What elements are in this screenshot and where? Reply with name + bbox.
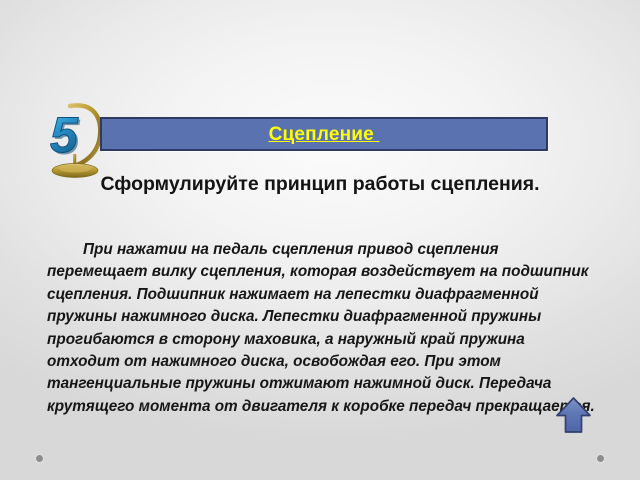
slide-canvas: 5 5 Сцепление Сформулируйте принцип рабо… bbox=[0, 0, 640, 480]
answer-paragraph: При нажатии на педаль сцепления привод с… bbox=[47, 239, 595, 418]
title-banner: Сцепление bbox=[100, 117, 548, 151]
up-arrow-icon[interactable] bbox=[554, 396, 594, 434]
question-heading: Сформулируйте принцип работы сцепления. bbox=[48, 172, 592, 197]
corner-dot-left bbox=[36, 455, 43, 462]
svg-text:5: 5 bbox=[50, 107, 79, 163]
corner-dot-right bbox=[597, 455, 604, 462]
page-title: Сцепление bbox=[269, 125, 380, 144]
